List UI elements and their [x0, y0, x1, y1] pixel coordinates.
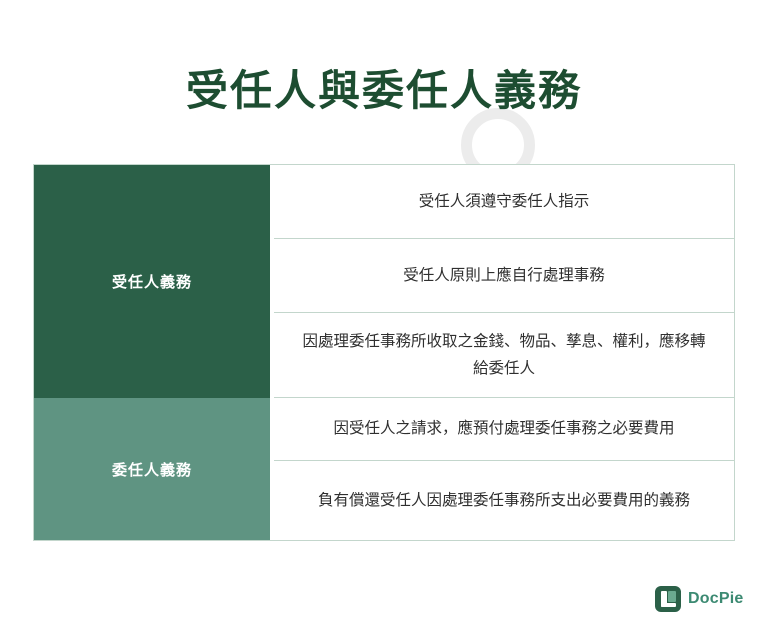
title-area: 受任人與委任人義務 — [0, 52, 768, 130]
docpie-logo: DocPie — [655, 585, 743, 613]
category-cell-mandatary: 受任人義務 — [34, 165, 270, 398]
table-row: 受任人須遵守委任人指示 — [274, 165, 734, 239]
table-row: 因受任人之請求，應預付處理委任事務之必要費用 — [274, 398, 734, 461]
obligations-table: 受任人義務 委任人義務 受任人須遵守委任人指示 受任人原則上應自行處理事務 因處… — [33, 164, 735, 541]
category-column: 受任人義務 委任人義務 — [34, 165, 270, 540]
table-row: 因處理委任事務所收取之金錢、物品、孳息、權利，應移轉給委任人 — [274, 313, 734, 398]
category-cell-mandator: 委任人義務 — [34, 398, 270, 540]
page-title: 受任人與委任人義務 — [0, 52, 768, 130]
detail-column: 受任人須遵守委任人指示 受任人原則上應自行處理事務 因處理委任事務所收取之金錢、… — [274, 165, 734, 540]
docpie-book-icon — [655, 586, 681, 612]
table-row: 受任人原則上應自行處理事務 — [274, 239, 734, 313]
table-row: 負有償還受任人因處理委任事務所支出必要費用的義務 — [274, 461, 734, 540]
brand-name: DocPie — [688, 590, 743, 608]
